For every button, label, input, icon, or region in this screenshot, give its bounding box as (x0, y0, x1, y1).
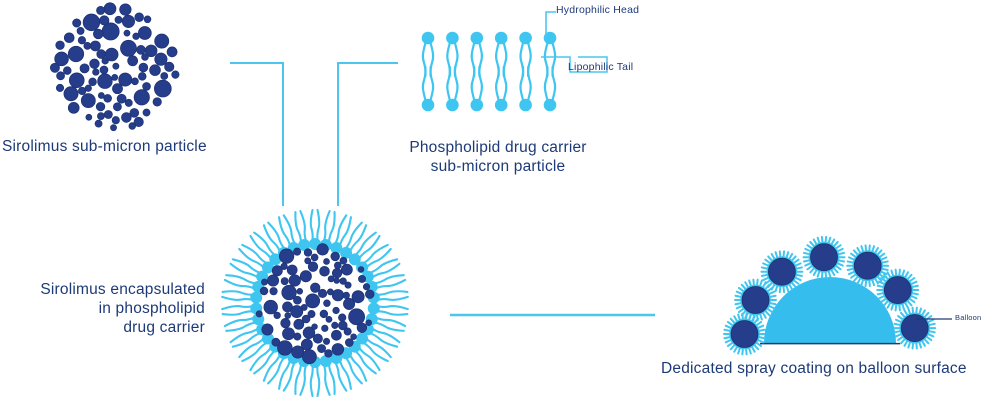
caption-sirolimus-particle: Sirolimus sub-micron particle (2, 138, 207, 157)
label-balloon: Balloon (955, 313, 981, 322)
coated-particle (804, 237, 845, 278)
diagram-canvas (0, 0, 1000, 401)
caption-encapsulated-particle: Sirolimus encapsulatedin phospholipiddru… (0, 281, 205, 338)
caption-phospholipid-line1: Phospholipid drug carrier (409, 139, 586, 156)
phospholipid-bilayer (422, 32, 557, 112)
caption-encapsulated-line3: drug carrier (123, 319, 205, 336)
sirolimus-particle (50, 3, 179, 131)
coated-particle (847, 245, 888, 286)
caption-balloon-coating: Dedicated spray coating on balloon surfa… (661, 360, 967, 379)
coated-particle (894, 308, 935, 349)
connector-bracket-right (338, 63, 398, 206)
connector-bracket-left (230, 63, 283, 206)
label-lipophilic-tail: Lipophilic Tail (568, 61, 633, 74)
caption-phospholipid-particle: Phospholipid drug carriersub-micron part… (393, 139, 603, 177)
caption-phospholipid-line2: sub-micron particle (431, 158, 566, 175)
caption-encapsulated-line2: in phospholipid (99, 300, 205, 317)
caption-encapsulated-line1: Sirolimus encapsulated (40, 281, 205, 298)
label-hydrophilic-head: Hydrophilic Head (556, 4, 639, 17)
coated-particle (724, 314, 765, 355)
